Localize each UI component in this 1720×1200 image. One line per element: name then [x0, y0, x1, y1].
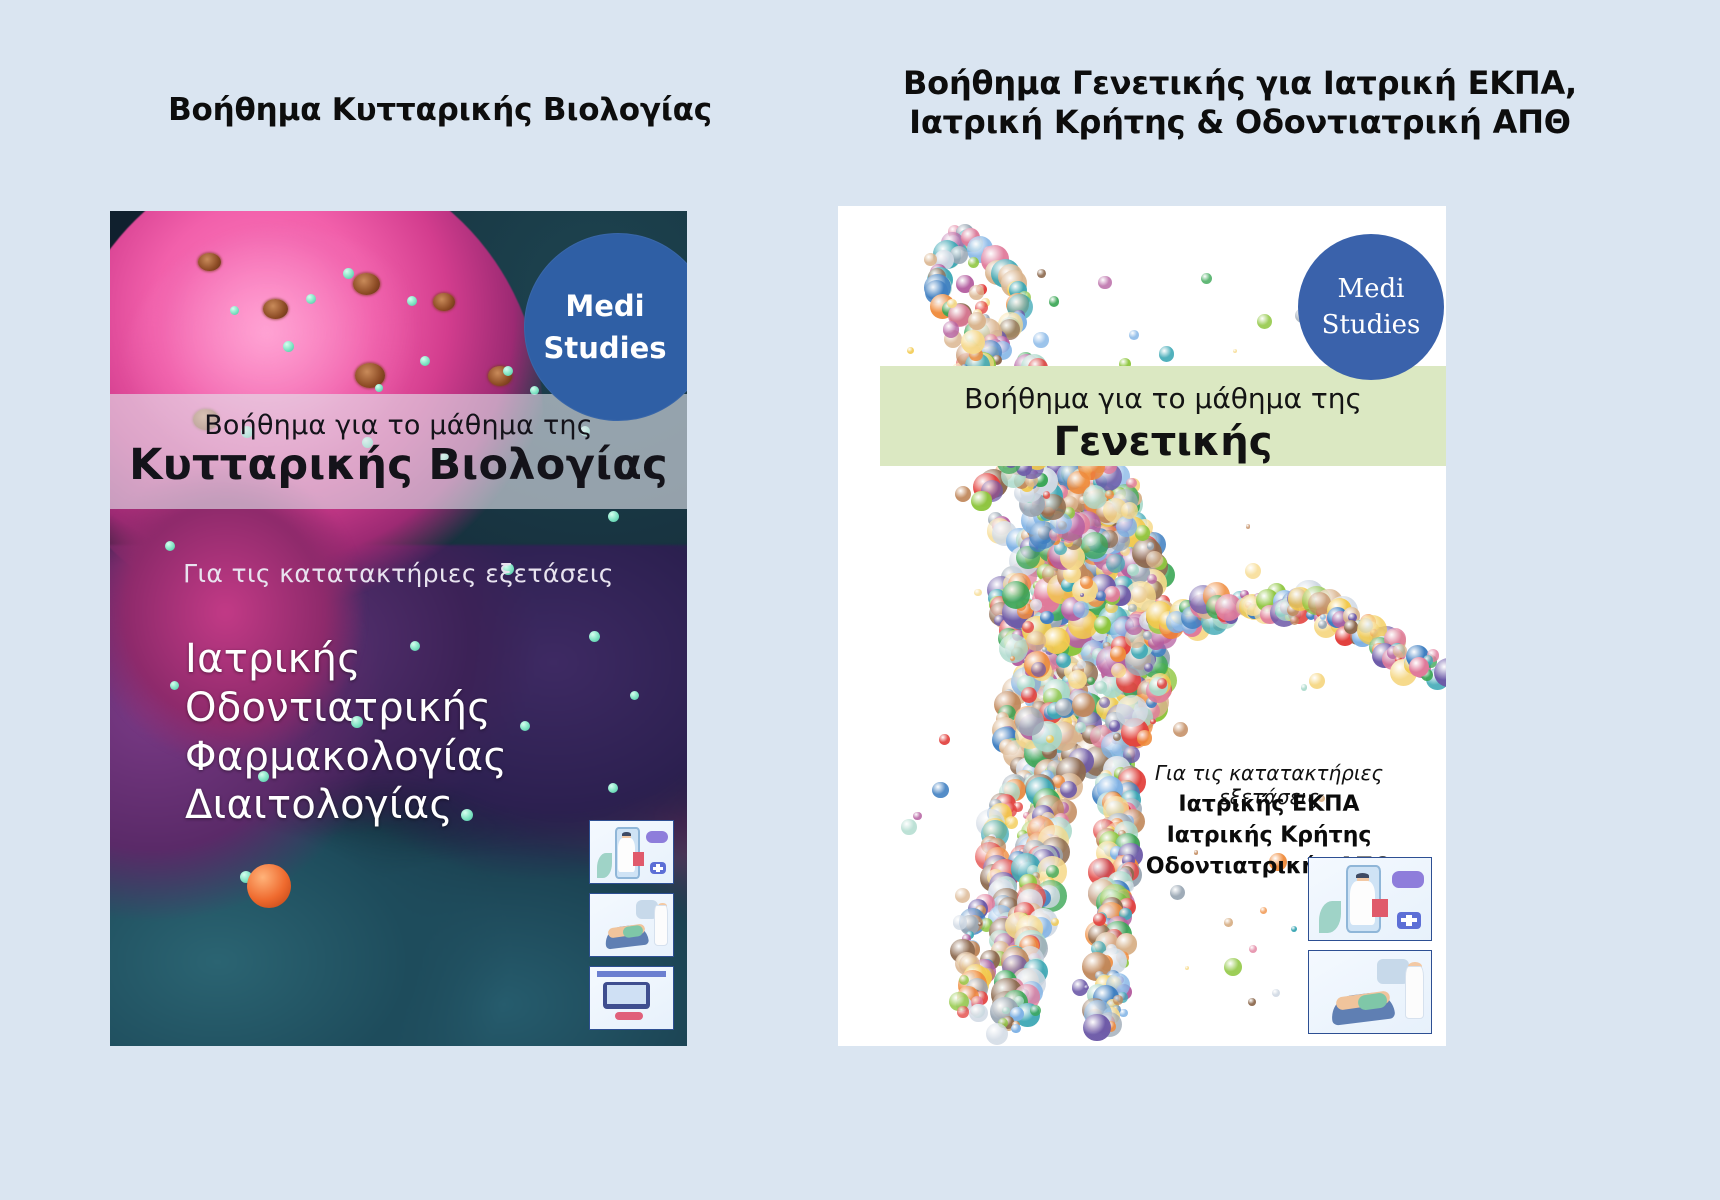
medi-studies-badge: Medi Studies [1298, 234, 1444, 380]
subject-item: Ιατρικής [185, 635, 507, 684]
cover-title: Γενετικής [880, 419, 1446, 465]
telemedicine-illustration-icon [589, 820, 674, 884]
online-study-illustration-icon [589, 966, 674, 1030]
dental-chair-illustration-icon [589, 893, 674, 957]
school-item: Ιατρικής Κρήτης [1104, 820, 1434, 851]
cover-thumbnail-strip [1308, 857, 1432, 1034]
slide-canvas: Βοήθημα Κυτταρικής Βιολογίας Βοήθημα Γεν… [0, 0, 1720, 1200]
subject-item: Φαρμακολογίας [185, 733, 507, 782]
dental-chair-illustration-icon [1308, 950, 1432, 1034]
cover-exam-line: Για τις κατατακτήριες εξετάσεις [110, 559, 687, 588]
cover-subject-list: Ιατρικής Οδοντιατρικής Φαρμακολογίας Δια… [185, 635, 507, 830]
school-item: Ιατρικής ΕΚΠΑ [1104, 789, 1434, 820]
book-cover-cell-biology[interactable]: Βοήθημα για το μάθημα της Κυτταρικής Βιο… [110, 211, 687, 1046]
page-title-genetics-line-2: Ιατρική Κρήτης & Οδοντιατρική ΑΠΘ [800, 103, 1680, 142]
badge-line-2: Studies [543, 327, 687, 369]
cover-subtitle: Βοήθημα για το μάθημα της [880, 382, 1446, 415]
book-cover-genetics[interactable]: Βοήθημα για το μάθημα της Γενετικής Medi… [838, 206, 1446, 1046]
cover-thumbnail-strip [589, 820, 674, 1030]
badge-line-1: Medi [565, 285, 670, 327]
badge-line-2: Studies [1322, 307, 1421, 343]
subject-item: Οδοντιατρικής [185, 684, 507, 733]
cover-title: Κυτταρικής Βιολογίας [110, 440, 687, 490]
page-title-cell-biology: Βοήθημα Κυτταρικής Βιολογίας [60, 92, 820, 130]
page-title-genetics-line-1: Βοήθημα Γενετικής για Ιατρική ΕΚΠΑ, [800, 64, 1680, 103]
telemedicine-illustration-icon [1308, 857, 1432, 941]
page-title-genetics: Βοήθημα Γενετικής για Ιατρική ΕΚΠΑ, Ιατρ… [800, 64, 1680, 142]
badge-line-1: Medi [1338, 271, 1405, 307]
subject-item: Διαιτολογίας [185, 781, 507, 830]
